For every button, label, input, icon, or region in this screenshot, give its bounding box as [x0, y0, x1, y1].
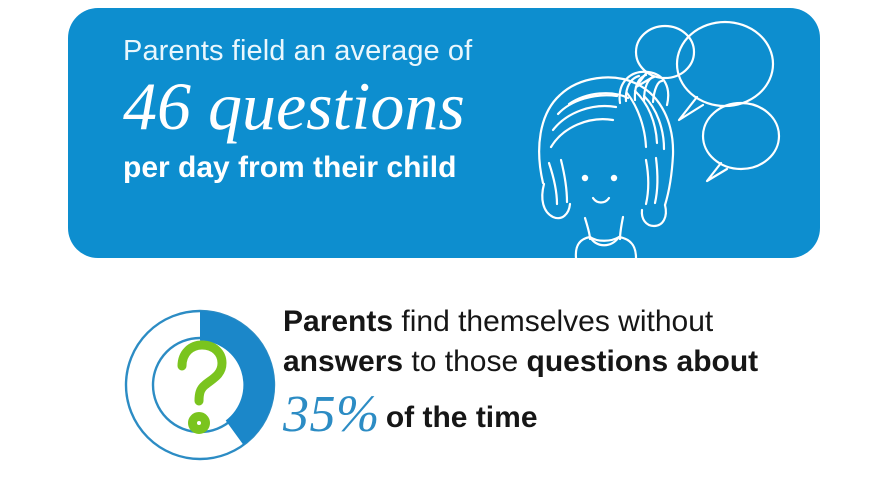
stat-row: Parents find themselves without answers …: [0, 290, 889, 475]
percent-tail: of the time: [386, 401, 538, 434]
hair-strands: [549, 91, 664, 204]
question-mark-icon: [182, 345, 222, 430]
percent-value: 35%: [283, 386, 380, 443]
stat-line-1-bold: Parents: [283, 305, 393, 338]
stat-line-1-rest: find themselves without: [393, 305, 713, 338]
donut-chart: [120, 305, 280, 465]
banner-headline-number: 46 questions: [123, 70, 543, 143]
stat-line-3: 35%of the time: [283, 385, 803, 445]
banner-lead-text: Parents field an average of: [123, 36, 543, 68]
speech-bubble-medium-icon: [703, 103, 779, 181]
body-outline: [576, 217, 636, 258]
stat-text-group: Parents find themselves without answers …: [283, 302, 803, 445]
child-illustration: [513, 8, 820, 258]
stat-line-2-bold-b: questions about: [527, 345, 759, 378]
stat-line-2-bold-a: answers: [283, 345, 403, 378]
speech-bubble-small-icon: [636, 26, 694, 87]
banner-text-group: Parents field an average of 46 questions…: [123, 36, 543, 184]
infographic-root: Parents field an average of 46 questions…: [0, 0, 889, 500]
banner-sub-text: per day from their child: [123, 151, 543, 184]
stat-line-2-mid: to those: [403, 345, 526, 378]
stat-banner: Parents field an average of 46 questions…: [68, 8, 820, 258]
stat-line-1: Parents find themselves without: [283, 302, 803, 342]
stat-line-2: answers to those questions about: [283, 342, 803, 382]
face-features: [582, 175, 617, 203]
